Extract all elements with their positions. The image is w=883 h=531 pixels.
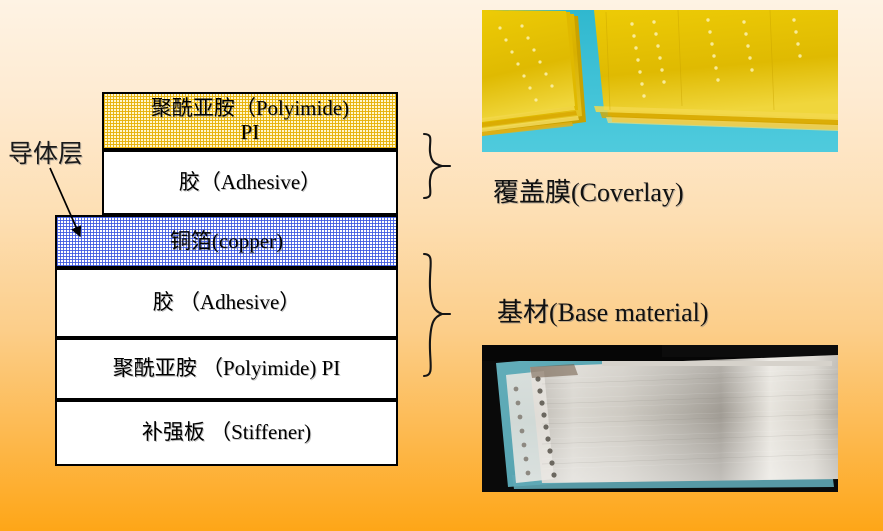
coverlay-photo-image	[482, 10, 838, 152]
base-material-photo-image	[482, 345, 838, 492]
coverlay-caption: 覆盖膜(Coverlay)	[493, 172, 684, 209]
base-material-brace	[418, 252, 452, 378]
coverlay-photo	[482, 10, 838, 152]
base-material-caption: 基材(Base material)	[497, 292, 709, 329]
slide-canvas: 聚酰亚胺（Polyimide) PI 胶（Adhesive） 铜箔(copper…	[0, 0, 883, 531]
coverlay-brace	[418, 132, 452, 200]
base-material-photo	[482, 345, 838, 492]
